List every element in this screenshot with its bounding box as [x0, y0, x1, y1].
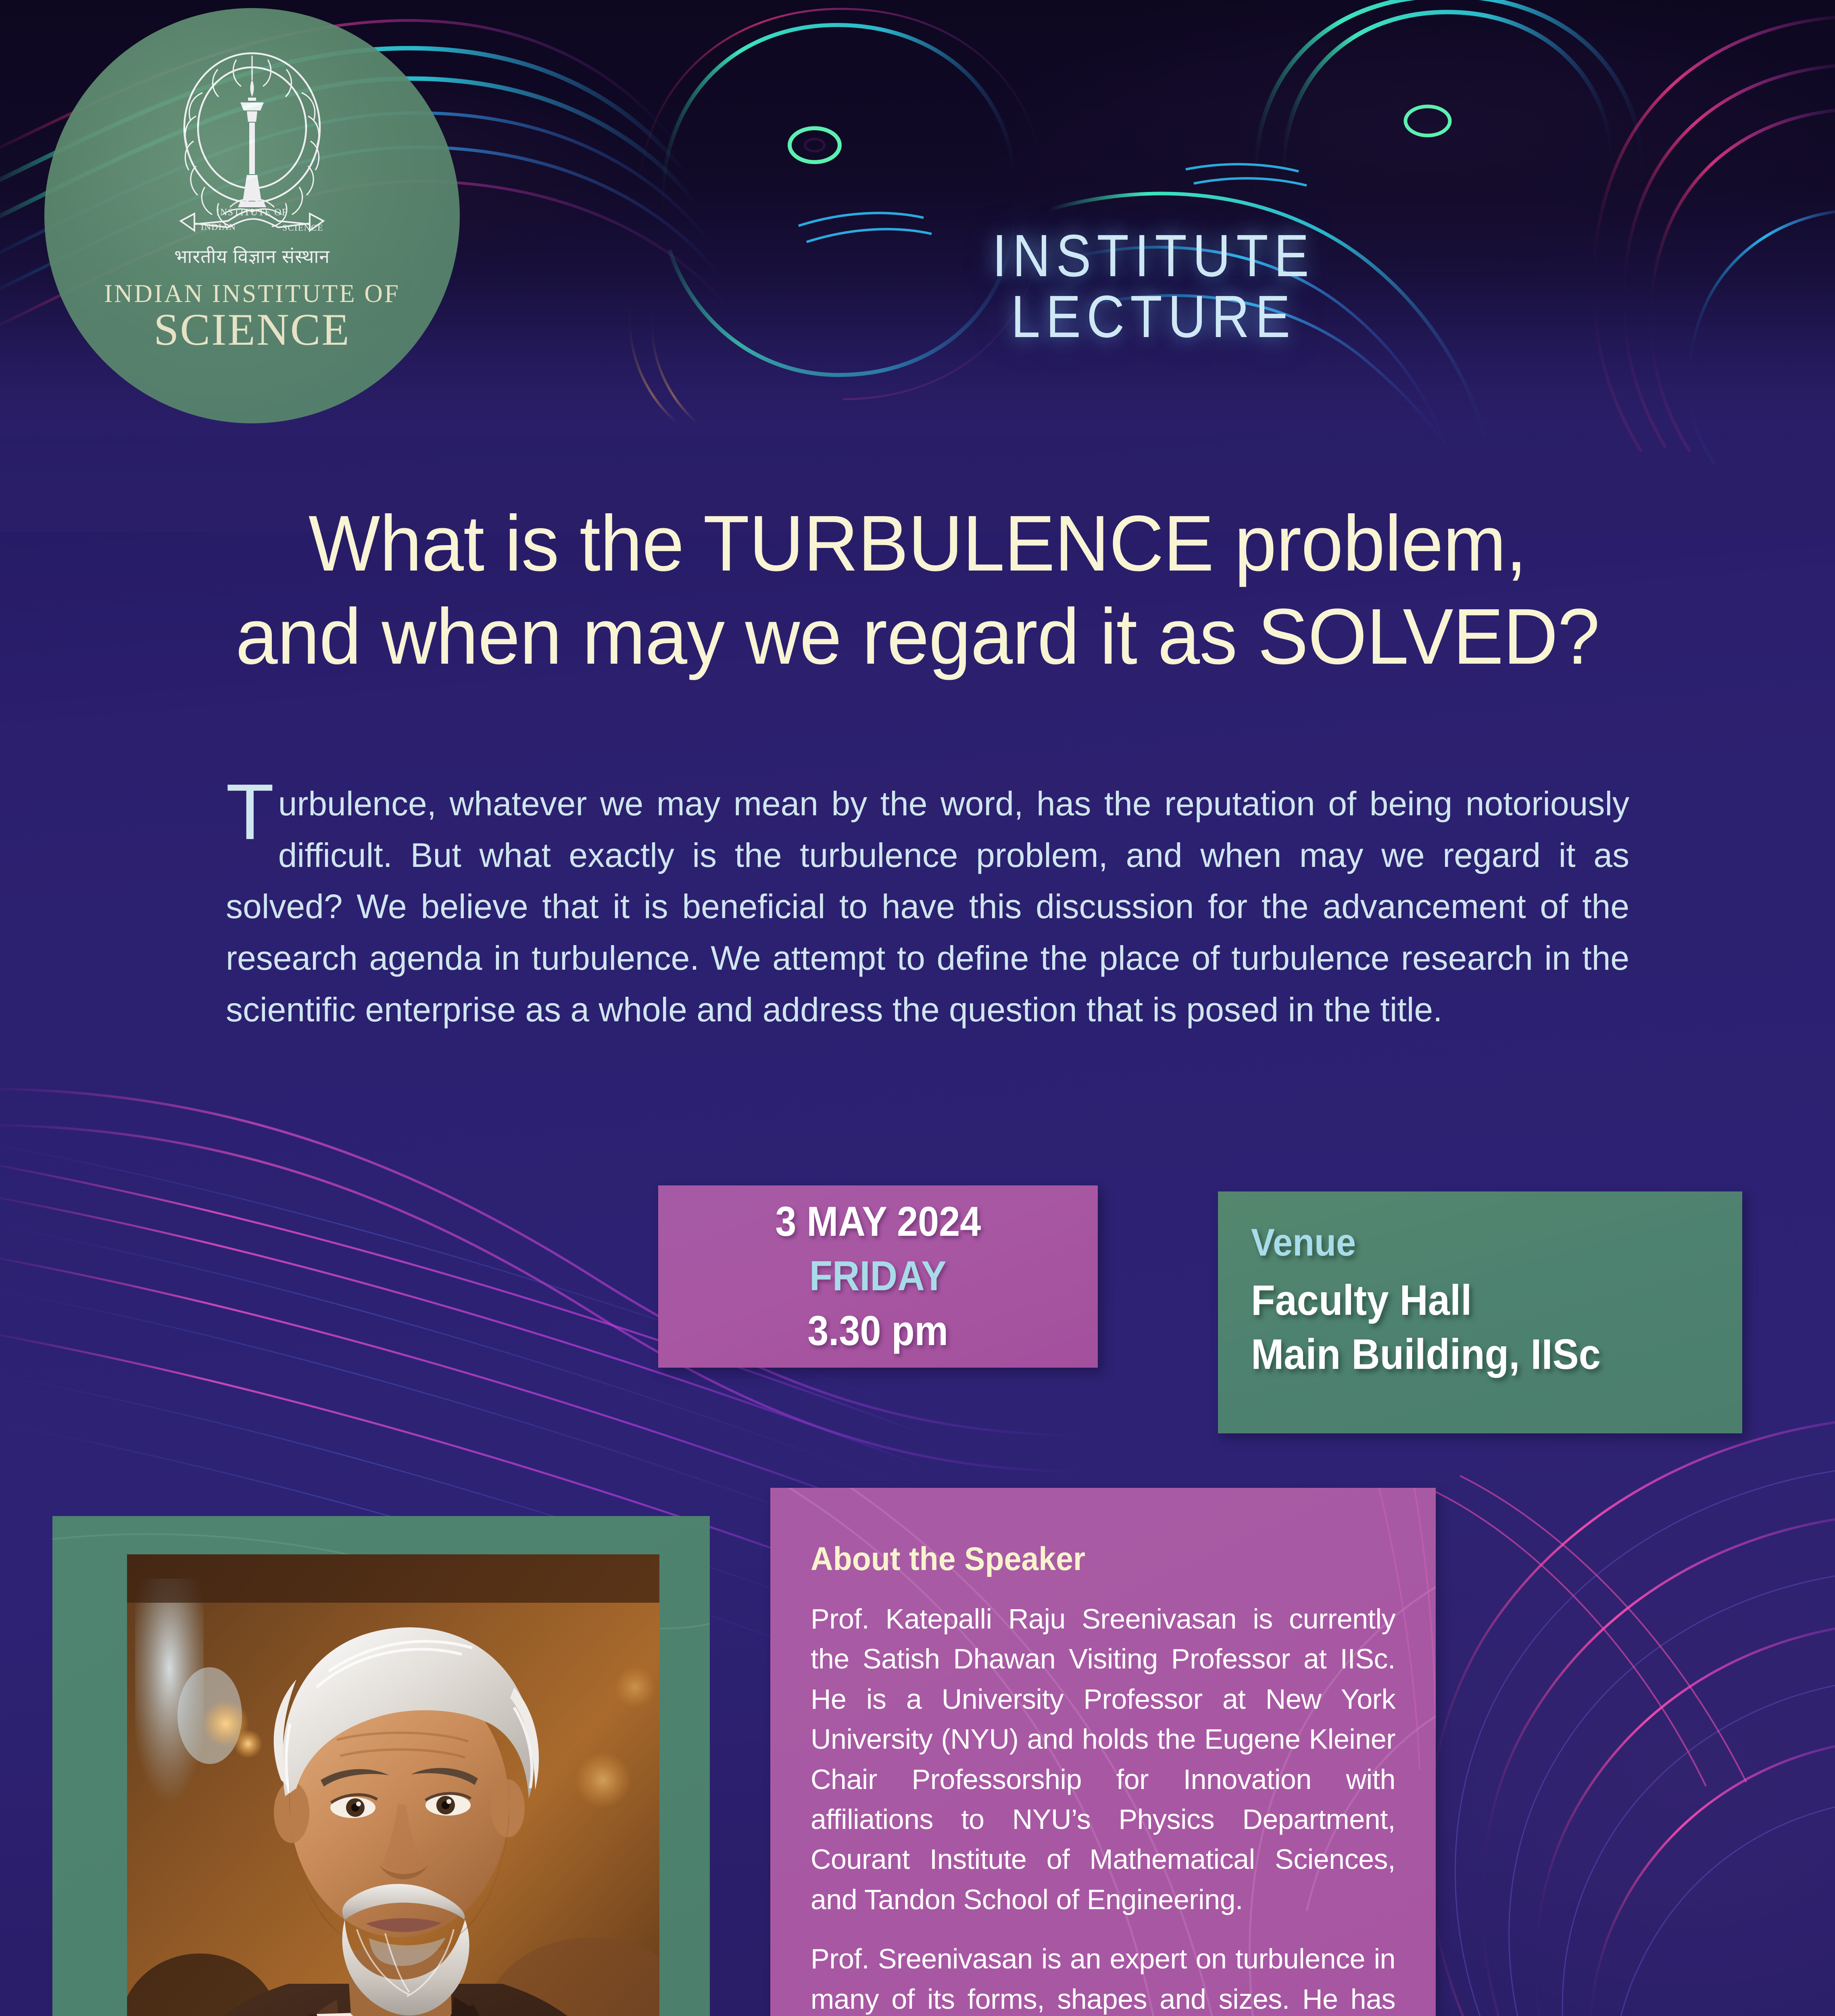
abstract-dropcap: T [226, 778, 278, 843]
abstract-body: urbulence, whatever we may mean by the w… [226, 785, 1629, 1029]
speaker-portrait-image [127, 1554, 659, 2016]
header-line-1: INSTITUTE [992, 223, 1315, 289]
venue-label: Venue [1251, 1220, 1703, 1265]
speaker-panel: K. R. SREENIVASAN Satish Dhawan Visiting… [52, 1516, 710, 2016]
svg-text:SCIENCE: SCIENCE [282, 223, 323, 233]
svg-text:INDIAN: INDIAN [201, 222, 236, 232]
venue-box: Venue Faculty Hall Main Building, IISc [1218, 1191, 1742, 1433]
event-time: 3.30 pm [808, 1304, 949, 1358]
title-line-1: What is the TURBULENCE problem, [95, 497, 1740, 590]
event-day: FRIDAY [809, 1250, 947, 1303]
logo-line-1: INDIAN INSTITUTE OF [104, 279, 400, 308]
iisc-crest-icon: INDIAN INSTITUTE OF SCIENCE [157, 41, 347, 251]
bio-paragraph-1: Prof. Katepalli Raju Sreenivasan is curr… [811, 1599, 1395, 1920]
header-line-2: LECTURE [692, 287, 1615, 348]
venue-line-2: Main Building, IISc [1251, 1328, 1703, 1382]
svg-text:INSTITUTE OF: INSTITUTE OF [216, 207, 288, 218]
event-date: 3 MAY 2024 [775, 1195, 981, 1249]
title-line-2: and when may we regard it as SOLVED? [95, 590, 1740, 683]
about-speaker-panel: About the Speaker Prof. Katepalli Raju S… [770, 1488, 1436, 2016]
speaker-photo [127, 1554, 659, 2016]
logo-hindi-text: भारतीय विज्ञान संस्थान [174, 244, 330, 269]
lecture-poster: INDIAN INSTITUTE OF SCIENCE भारतीय विज्ञ… [0, 0, 1835, 2016]
about-speaker-heading: About the Speaker [811, 1540, 1360, 1578]
date-box: 3 MAY 2024 FRIDAY 3.30 pm [658, 1185, 1098, 1368]
abstract-paragraph: Turbulence, whatever we may mean by the … [226, 778, 1629, 1035]
page-title: What is the TURBULENCE problem, and when… [95, 497, 1740, 683]
logo-line-2: SCIENCE [154, 309, 350, 351]
bio-paragraph-2: Prof. Sreenivasan is an expert on turbul… [811, 1939, 1395, 2016]
venue-line-1: Faculty Hall [1251, 1274, 1703, 1328]
iisc-logo-badge: INDIAN INSTITUTE OF SCIENCE भारतीय विज्ञ… [44, 8, 460, 423]
institute-lecture-header: INSTITUTE LECTURE [692, 226, 1615, 348]
